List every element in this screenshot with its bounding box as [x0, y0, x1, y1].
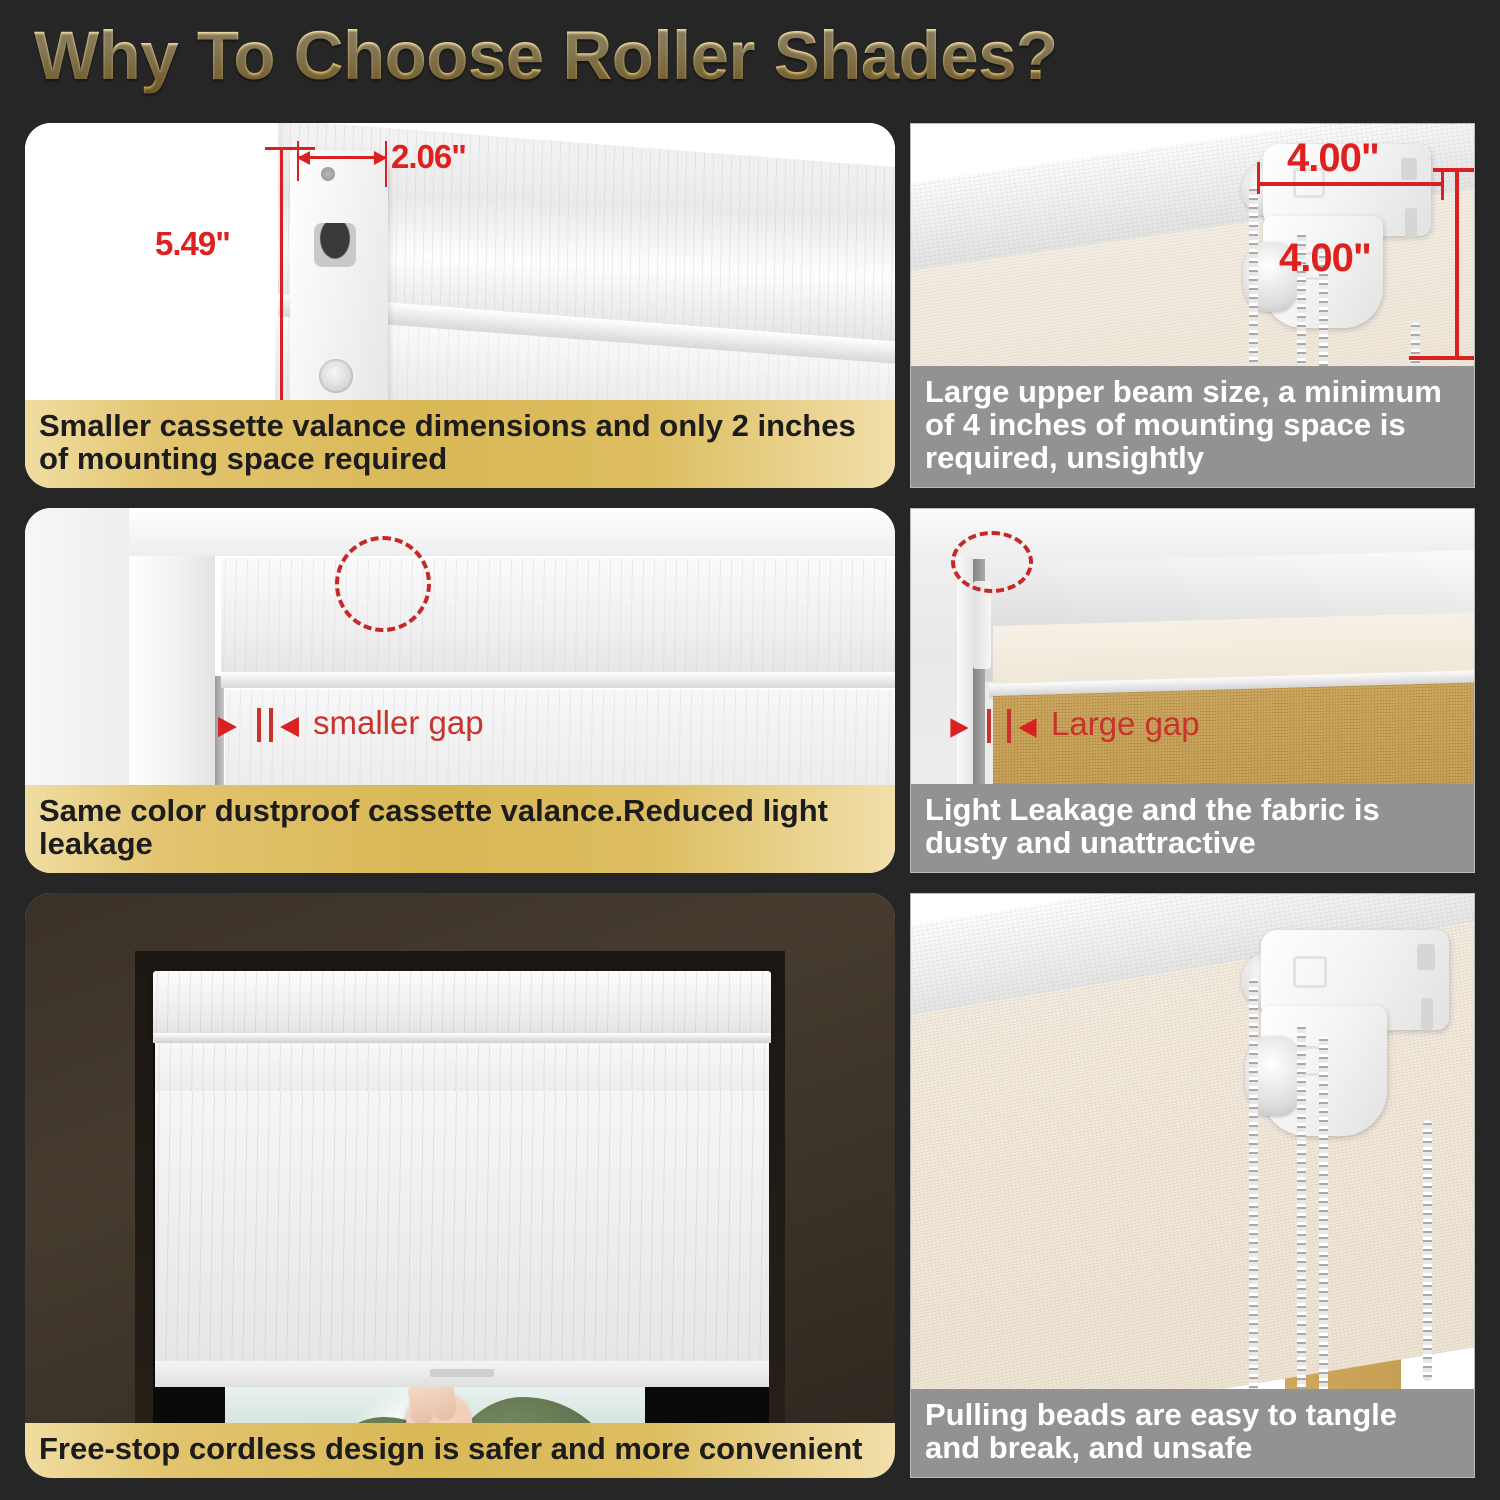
dim-tick-right-4in [1441, 168, 1444, 200]
end-cap-screw-icon [319, 359, 353, 393]
bead-chain-2 [1297, 1024, 1306, 1404]
highlight-dashed-circle [951, 531, 1033, 593]
panel-caption: Free-stop cordless design is safer and m… [25, 1423, 895, 1478]
dim-line-height-4in [1455, 168, 1459, 360]
bracket-slot-icon-2 [1421, 998, 1433, 1030]
panel-caption: Pulling beads are easy to tangle and bre… [911, 1389, 1474, 1477]
bead-chain-4 [1423, 1120, 1432, 1382]
dimension-width-label: 2.06" [391, 138, 466, 176]
panel-caption: Large upper beam size, a minimum of 4 in… [911, 366, 1474, 487]
dimension-height-label: 4.00" [1279, 236, 1371, 281]
gap-arrow-right-icon [280, 717, 299, 737]
panel-pulling-beads: Pulling beads are easy to tangle and bre… [910, 893, 1475, 1478]
shade-pull-tab [430, 1369, 494, 1377]
gap-arrow-right-icon [1018, 718, 1036, 738]
bead-chain-3 [1319, 1036, 1328, 1404]
panel-caption: Same color dustproof cassette valance.Re… [25, 785, 895, 873]
panel-smaller-cassette: 2.06" 5.49" Smaller cassette valance dim… [25, 123, 895, 488]
dim-tick-top [265, 147, 315, 150]
panel-cordless-design: Free-stop cordless design is safer and m… [25, 893, 895, 1478]
gap-tick-1 [257, 708, 261, 742]
window-header [129, 508, 895, 556]
dimension-width-label: 4.00" [1287, 136, 1379, 181]
gap-label: Large gap [1051, 705, 1200, 743]
cassette-valance-lip [221, 672, 895, 688]
gap-tick-1 [987, 709, 991, 743]
dim-tick-left-4in [1257, 162, 1260, 194]
dim-tick-top-4in [1433, 168, 1474, 172]
bead-chain-1 [1249, 978, 1258, 1398]
cassette-valance [153, 971, 771, 1039]
dim-tick-bottom-4in [1409, 356, 1474, 360]
roller-side-clip [973, 581, 991, 669]
dim-arrow-left-icon [297, 151, 310, 165]
page-title: Why To Choose Roller Shades? [34, 16, 1058, 95]
bracket-slot-icon-2 [1405, 208, 1417, 238]
cassette-valance [221, 558, 895, 680]
shade-fabric-top [155, 1043, 769, 1091]
dim-line-width-4in [1259, 182, 1444, 186]
panel-caption: Light Leakage and the fabric is dusty an… [911, 784, 1474, 872]
room-photo-cordless-shade [25, 893, 895, 1478]
end-cap-slot-icon [314, 223, 356, 267]
bracket-emboss-icon-1 [1293, 956, 1327, 988]
bracket-slot-icon-1 [1401, 158, 1417, 180]
panel-large-gap: Large gap Light Leakage and the fabric i… [910, 508, 1475, 873]
panel-caption: Smaller cassette valance dimensions and … [25, 400, 895, 488]
highlight-dashed-circle [335, 536, 431, 632]
bracket-slot-icon-1 [1417, 944, 1435, 970]
gap-arrow-left-icon [218, 717, 237, 737]
gap-label: smaller gap [313, 704, 484, 742]
end-cap-pin-icon [321, 167, 335, 181]
gap-arrow-left-icon [950, 718, 968, 738]
gap-tick-2 [269, 708, 273, 742]
cassette-valance-lip [153, 1033, 771, 1043]
dim-arrow-right-icon [374, 151, 387, 165]
panel-large-upper-beam: 4.00" 4.00" Large upper beam size, a min… [910, 123, 1475, 488]
panel-smaller-gap: smaller gap Same color dustproof cassett… [25, 508, 895, 873]
gap-tick-2 [1007, 709, 1011, 743]
window-frame-post [957, 557, 973, 821]
dimension-height-label: 5.49" [155, 225, 230, 263]
title-bar: Why To Choose Roller Shades? [0, 0, 1500, 118]
shade-fabric-main [155, 1091, 769, 1361]
